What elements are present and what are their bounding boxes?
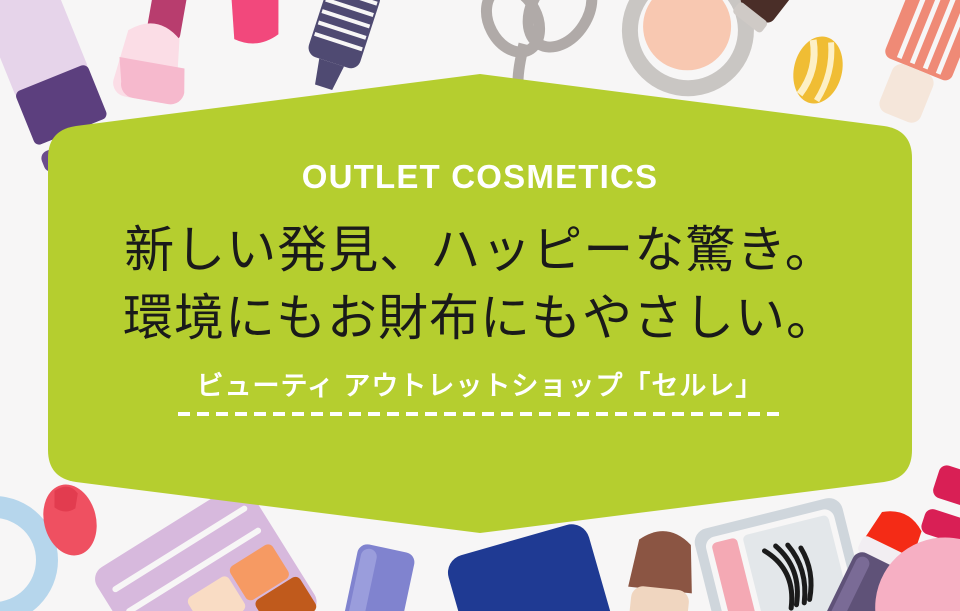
banner-headline-line-1: 新しい発見、ハッピーな驚き。 [124, 216, 836, 284]
promo-banner-page: OUTLET COSMETICS 新しい発見、ハッピーな驚き。 環境にもお財布に… [0, 0, 960, 611]
banner-subtitle: ビューティ アウトレットショップ「セルレ」 [178, 372, 782, 402]
banner-subtitle-block: ビューティ アウトレットショップ「セルレ」 [178, 372, 782, 416]
dashed-divider [178, 412, 782, 416]
banner-shape-wrapper: OUTLET COSMETICS 新しい発見、ハッピーな驚き。 環境にもお財布に… [0, 0, 960, 611]
banner-headline-line-2: 環境にもお財布にもやさしい。 [123, 284, 837, 352]
banner-content: OUTLET COSMETICS 新しい発見、ハッピーな驚き。 環境にもお財布に… [48, 74, 912, 534]
banner-eyebrow: OUTLET COSMETICS [302, 160, 659, 193]
